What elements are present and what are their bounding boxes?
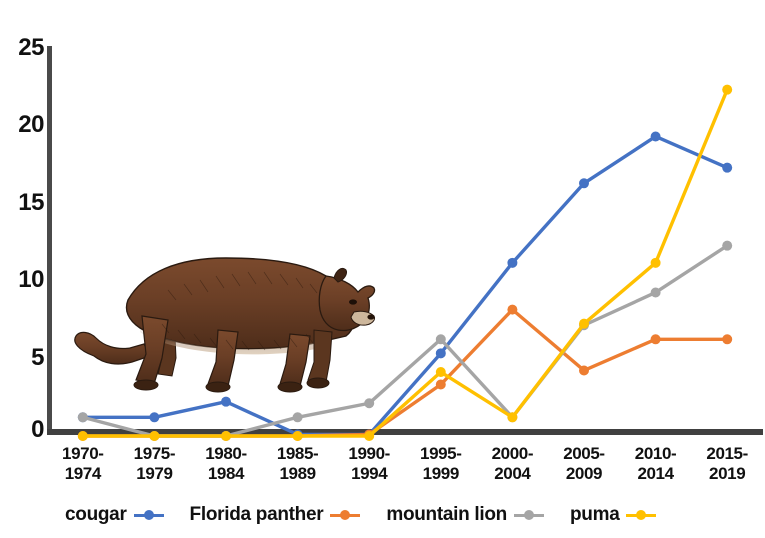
x-axis-labels: 1970- 1974 1975- 1979 1980- 1984 1985- 1… [47, 444, 763, 494]
legend-item-mountain-lion[interactable]: mountain lion [386, 504, 544, 526]
legend-item-puma[interactable]: puma [570, 504, 656, 526]
data-point[interactable] [722, 334, 732, 344]
x-tick-line1: 1975- [119, 444, 191, 464]
legend-label-cougar: cougar [65, 504, 127, 526]
x-tick-1970-1974: 1970- 1974 [47, 444, 119, 494]
data-point[interactable] [149, 431, 159, 441]
x-tick-line2: 1984 [190, 464, 262, 484]
y-tick-5: 5 [0, 346, 44, 370]
y-axis-labels: 25 20 15 10 5 0 [0, 0, 44, 538]
chart-container: 25 20 15 10 5 0 [0, 0, 765, 538]
x-tick-line1: 1995- [405, 444, 477, 464]
x-tick-2000-2004: 2000- 2004 [477, 444, 549, 494]
x-tick-1995-1999: 1995- 1999 [405, 444, 477, 494]
x-tick-2005-2009: 2005- 2009 [548, 444, 620, 494]
data-point[interactable] [436, 367, 446, 377]
y-tick-15: 15 [0, 191, 44, 215]
series-puma [78, 85, 732, 441]
data-point[interactable] [507, 305, 517, 315]
data-point[interactable] [651, 334, 661, 344]
data-point[interactable] [293, 412, 303, 422]
legend-item-florida-panther[interactable]: Florida panther [190, 504, 361, 526]
x-tick-line1: 1970- [47, 444, 119, 464]
data-point[interactable] [436, 348, 446, 358]
data-point[interactable] [293, 431, 303, 441]
data-point[interactable] [579, 319, 589, 329]
x-tick-2010-2014: 2010- 2014 [620, 444, 692, 494]
x-tick-line1: 2015- [691, 444, 763, 464]
legend-marker-puma [626, 509, 656, 521]
data-point[interactable] [722, 85, 732, 95]
x-tick-line2: 1974 [47, 464, 119, 484]
y-tick-25: 25 [0, 36, 44, 60]
data-point[interactable] [507, 412, 517, 422]
data-point[interactable] [651, 287, 661, 297]
x-tick-line1: 1990- [333, 444, 405, 464]
x-tick-line2: 2004 [477, 464, 549, 484]
chart-legend: cougar Florida panther mountain lion pum… [47, 500, 763, 530]
legend-label-mountain-lion: mountain lion [386, 504, 507, 526]
x-tick-line2: 1989 [262, 464, 334, 484]
y-tick-20: 20 [0, 113, 44, 137]
x-tick-line2: 1979 [119, 464, 191, 484]
legend-label-puma: puma [570, 504, 619, 526]
x-tick-line1: 1980- [190, 444, 262, 464]
data-point[interactable] [364, 431, 374, 441]
y-tick-10: 10 [0, 268, 44, 292]
data-point[interactable] [579, 178, 589, 188]
x-tick-line1: 2000- [477, 444, 549, 464]
series-cougar [78, 131, 732, 439]
data-point[interactable] [651, 258, 661, 268]
x-tick-line2: 1999 [405, 464, 477, 484]
data-point[interactable] [436, 380, 446, 390]
x-tick-1985-1989: 1985- 1989 [262, 444, 334, 494]
legend-marker-mountain-lion [514, 509, 544, 521]
data-point[interactable] [149, 412, 159, 422]
data-point[interactable] [221, 431, 231, 441]
x-tick-1980-1984: 1980- 1984 [190, 444, 262, 494]
x-tick-line1: 1985- [262, 444, 334, 464]
x-tick-1975-1979: 1975- 1979 [119, 444, 191, 494]
x-tick-1990-1994: 1990- 1994 [333, 444, 405, 494]
x-tick-line2: 2014 [620, 464, 692, 484]
x-tick-line2: 2009 [548, 464, 620, 484]
y-tick-0: 0 [0, 418, 44, 442]
data-point[interactable] [507, 258, 517, 268]
data-point[interactable] [78, 431, 88, 441]
data-point[interactable] [722, 163, 732, 173]
legend-marker-florida-panther [330, 509, 360, 521]
data-point[interactable] [78, 412, 88, 422]
legend-label-florida-panther: Florida panther [190, 504, 324, 526]
x-tick-line2: 1994 [333, 464, 405, 484]
legend-marker-cougar [134, 509, 164, 521]
x-tick-line1: 2010- [620, 444, 692, 464]
data-point[interactable] [436, 334, 446, 344]
series-line [83, 90, 727, 436]
data-point[interactable] [221, 397, 231, 407]
data-point[interactable] [722, 241, 732, 251]
data-point[interactable] [579, 365, 589, 375]
data-point[interactable] [364, 398, 374, 408]
data-point[interactable] [651, 131, 661, 141]
x-tick-line2: 2019 [691, 464, 763, 484]
legend-item-cougar[interactable]: cougar [65, 504, 164, 526]
plot-area [47, 46, 763, 436]
series-canvas [47, 46, 763, 436]
x-tick-2015-2019: 2015- 2019 [691, 444, 763, 494]
x-tick-line1: 2005- [548, 444, 620, 464]
